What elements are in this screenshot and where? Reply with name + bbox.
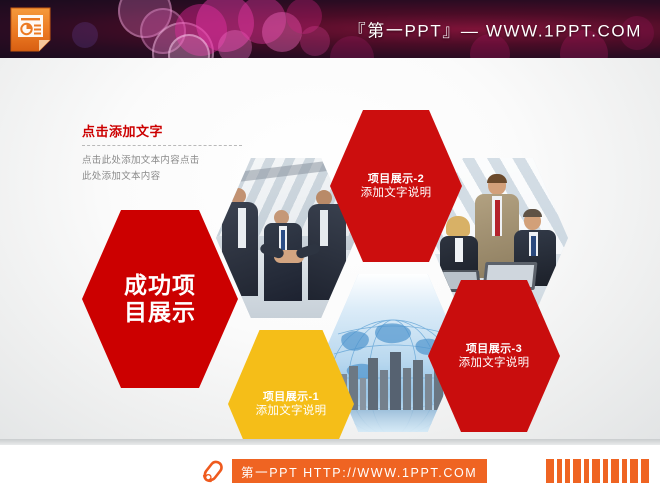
bokeh-circle [218, 30, 252, 58]
bokeh-circle [140, 8, 186, 54]
hexagon-item-2-line-1: 项目展示-2 [361, 172, 432, 186]
hexagon-item-3-line-1: 项目展示-3 [459, 342, 530, 356]
headline-title: 点击添加文字 [82, 124, 250, 140]
headline-body: 点击此处添加文本内容点击 此处添加文本内容 [82, 153, 250, 185]
footer-top-strip [0, 439, 660, 445]
bokeh-circle [168, 34, 210, 58]
barcode-bar [630, 459, 638, 483]
hexagon-main-line-2: 目展示 [124, 299, 196, 325]
site-title: 『第一PPT』— WWW.1PPT.COM [349, 17, 642, 42]
hexagon-item-3-line-2: 添加文字说明 [459, 356, 530, 371]
headline-block: 点击添加文字 点击此处添加文本内容点击 此处添加文本内容 [82, 124, 250, 185]
bokeh-circle [196, 0, 254, 52]
barcode-bar [603, 459, 608, 483]
powerpoint-logo-icon [9, 6, 52, 53]
bokeh-circle [152, 22, 214, 58]
bokeh-circle [118, 0, 172, 38]
hexagon-item-3-label: 项目展示-3 添加文字说明 [453, 342, 536, 371]
bokeh-circle [72, 22, 98, 48]
hexagon-item-2-line-2: 添加文字说明 [361, 186, 432, 201]
headline-body-line-1: 点击此处添加文本内容点击 [82, 153, 250, 169]
bokeh-circle [262, 12, 302, 52]
bokeh-circle [286, 0, 322, 34]
barcode-bar [611, 459, 619, 483]
hexagon-item-1-label: 项目展示-1 添加文字说明 [250, 390, 333, 419]
barcode-bar [546, 459, 554, 483]
barcode-bar [592, 459, 600, 483]
top-banner: 『第一PPT』— WWW.1PPT.COM [0, 0, 660, 58]
pencil-icon [194, 456, 228, 490]
hexagon-item-1-line-2: 添加文字说明 [256, 404, 327, 419]
hexagon-item-1-line-1: 项目展示-1 [256, 390, 327, 404]
bokeh-circle [175, 4, 227, 56]
bokeh-circle [238, 0, 286, 44]
headline-divider [82, 145, 242, 146]
bokeh-circle [300, 26, 330, 56]
barcode-bar [622, 459, 627, 483]
hexagon-main-line-1: 成功项 [124, 272, 196, 298]
hexagon-main-label: 成功项 目展示 [124, 272, 196, 326]
barcode-bar [584, 459, 589, 483]
hexagon-item-3[interactable]: 项目展示-3 添加文字说明 [428, 280, 560, 432]
hexagon-item-2-label: 项目展示-2 添加文字说明 [355, 172, 438, 201]
barcode-bar [565, 459, 570, 483]
hexagon-main[interactable]: 成功项 目展示 [82, 210, 238, 388]
footer-url-label: 第一PPT HTTP://WWW.1PPT.COM [232, 459, 487, 483]
barcode-bar [557, 459, 562, 483]
barcode-bar [573, 459, 581, 483]
headline-body-line-2: 此处添加文本内容 [82, 169, 250, 185]
barcode-bar [641, 459, 649, 483]
footer-barcode [546, 459, 649, 483]
slide-canvas: 点击添加文字 点击此处添加文本内容点击 此处添加文本内容 [0, 58, 660, 444]
